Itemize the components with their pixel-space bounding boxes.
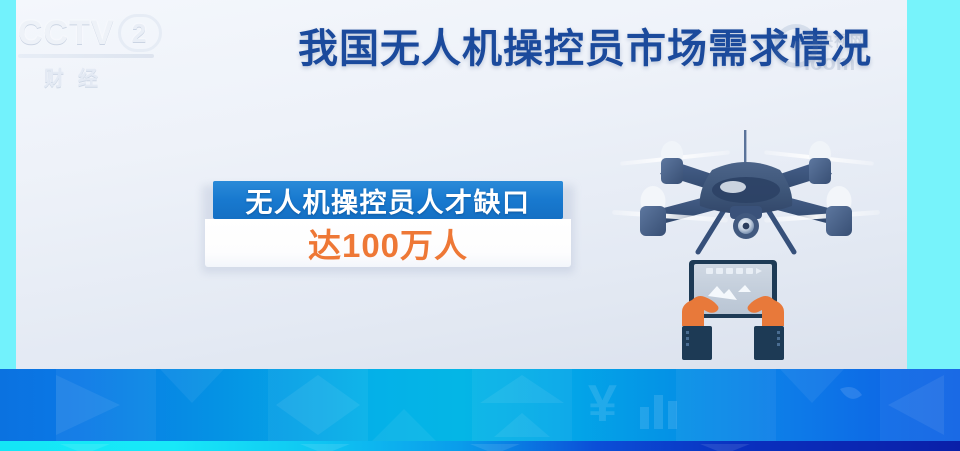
stat-card-body: 达100万人 — [205, 219, 571, 267]
stat-card-banner-label: 无人机操控员人才缺口 — [246, 181, 531, 220]
quadcopter-drone-illustration — [612, 118, 880, 258]
channel-logo: CCTV 2 财经 — [18, 14, 178, 82]
bottom-strip-pattern — [0, 444, 960, 451]
right-hand — [748, 296, 785, 360]
drone-camera — [730, 206, 762, 239]
left-edge-strip — [0, 0, 16, 369]
triangle-icon — [780, 369, 844, 403]
channel-number-badge: 2 — [118, 14, 162, 52]
bottom-bar-gradient: ¥ — [0, 369, 960, 441]
channel-subtitle: 财经 — [18, 62, 178, 91]
stat-card: 无人机操控员人才缺口 达100万人 — [205, 181, 571, 267]
triangle-icon — [160, 369, 224, 403]
drone-antenna — [744, 130, 746, 164]
logo-underline — [18, 54, 154, 58]
yen-symbol-icon: ¥ — [588, 375, 617, 433]
broadcast-screen: CCTV 2 财经 我国无人机操控员市场需求情况 快视网 .com 无人机操控员… — [0, 0, 960, 451]
swoosh-icon — [840, 387, 862, 399]
bar-chart-icon — [640, 395, 677, 429]
bottom-bar-accent-strip — [0, 441, 960, 451]
right-edge-strip — [907, 0, 960, 369]
page-title: 我国无人机操控员市场需求情况 — [298, 16, 878, 74]
hands-holding-tablet-illustration — [660, 252, 806, 364]
channel-logo-text: CCTV — [18, 16, 115, 50]
left-hand — [682, 296, 719, 360]
cctv-logo-icon: CCTV 2 — [18, 14, 178, 52]
stat-card-banner: 无人机操控员人才缺口 — [213, 181, 563, 219]
bottom-bar-pattern: ¥ — [0, 369, 960, 441]
bottom-decorative-bar: ¥ — [0, 369, 960, 451]
triangle-icon — [372, 409, 436, 441]
stat-card-value: 达100万人 — [308, 219, 468, 267]
